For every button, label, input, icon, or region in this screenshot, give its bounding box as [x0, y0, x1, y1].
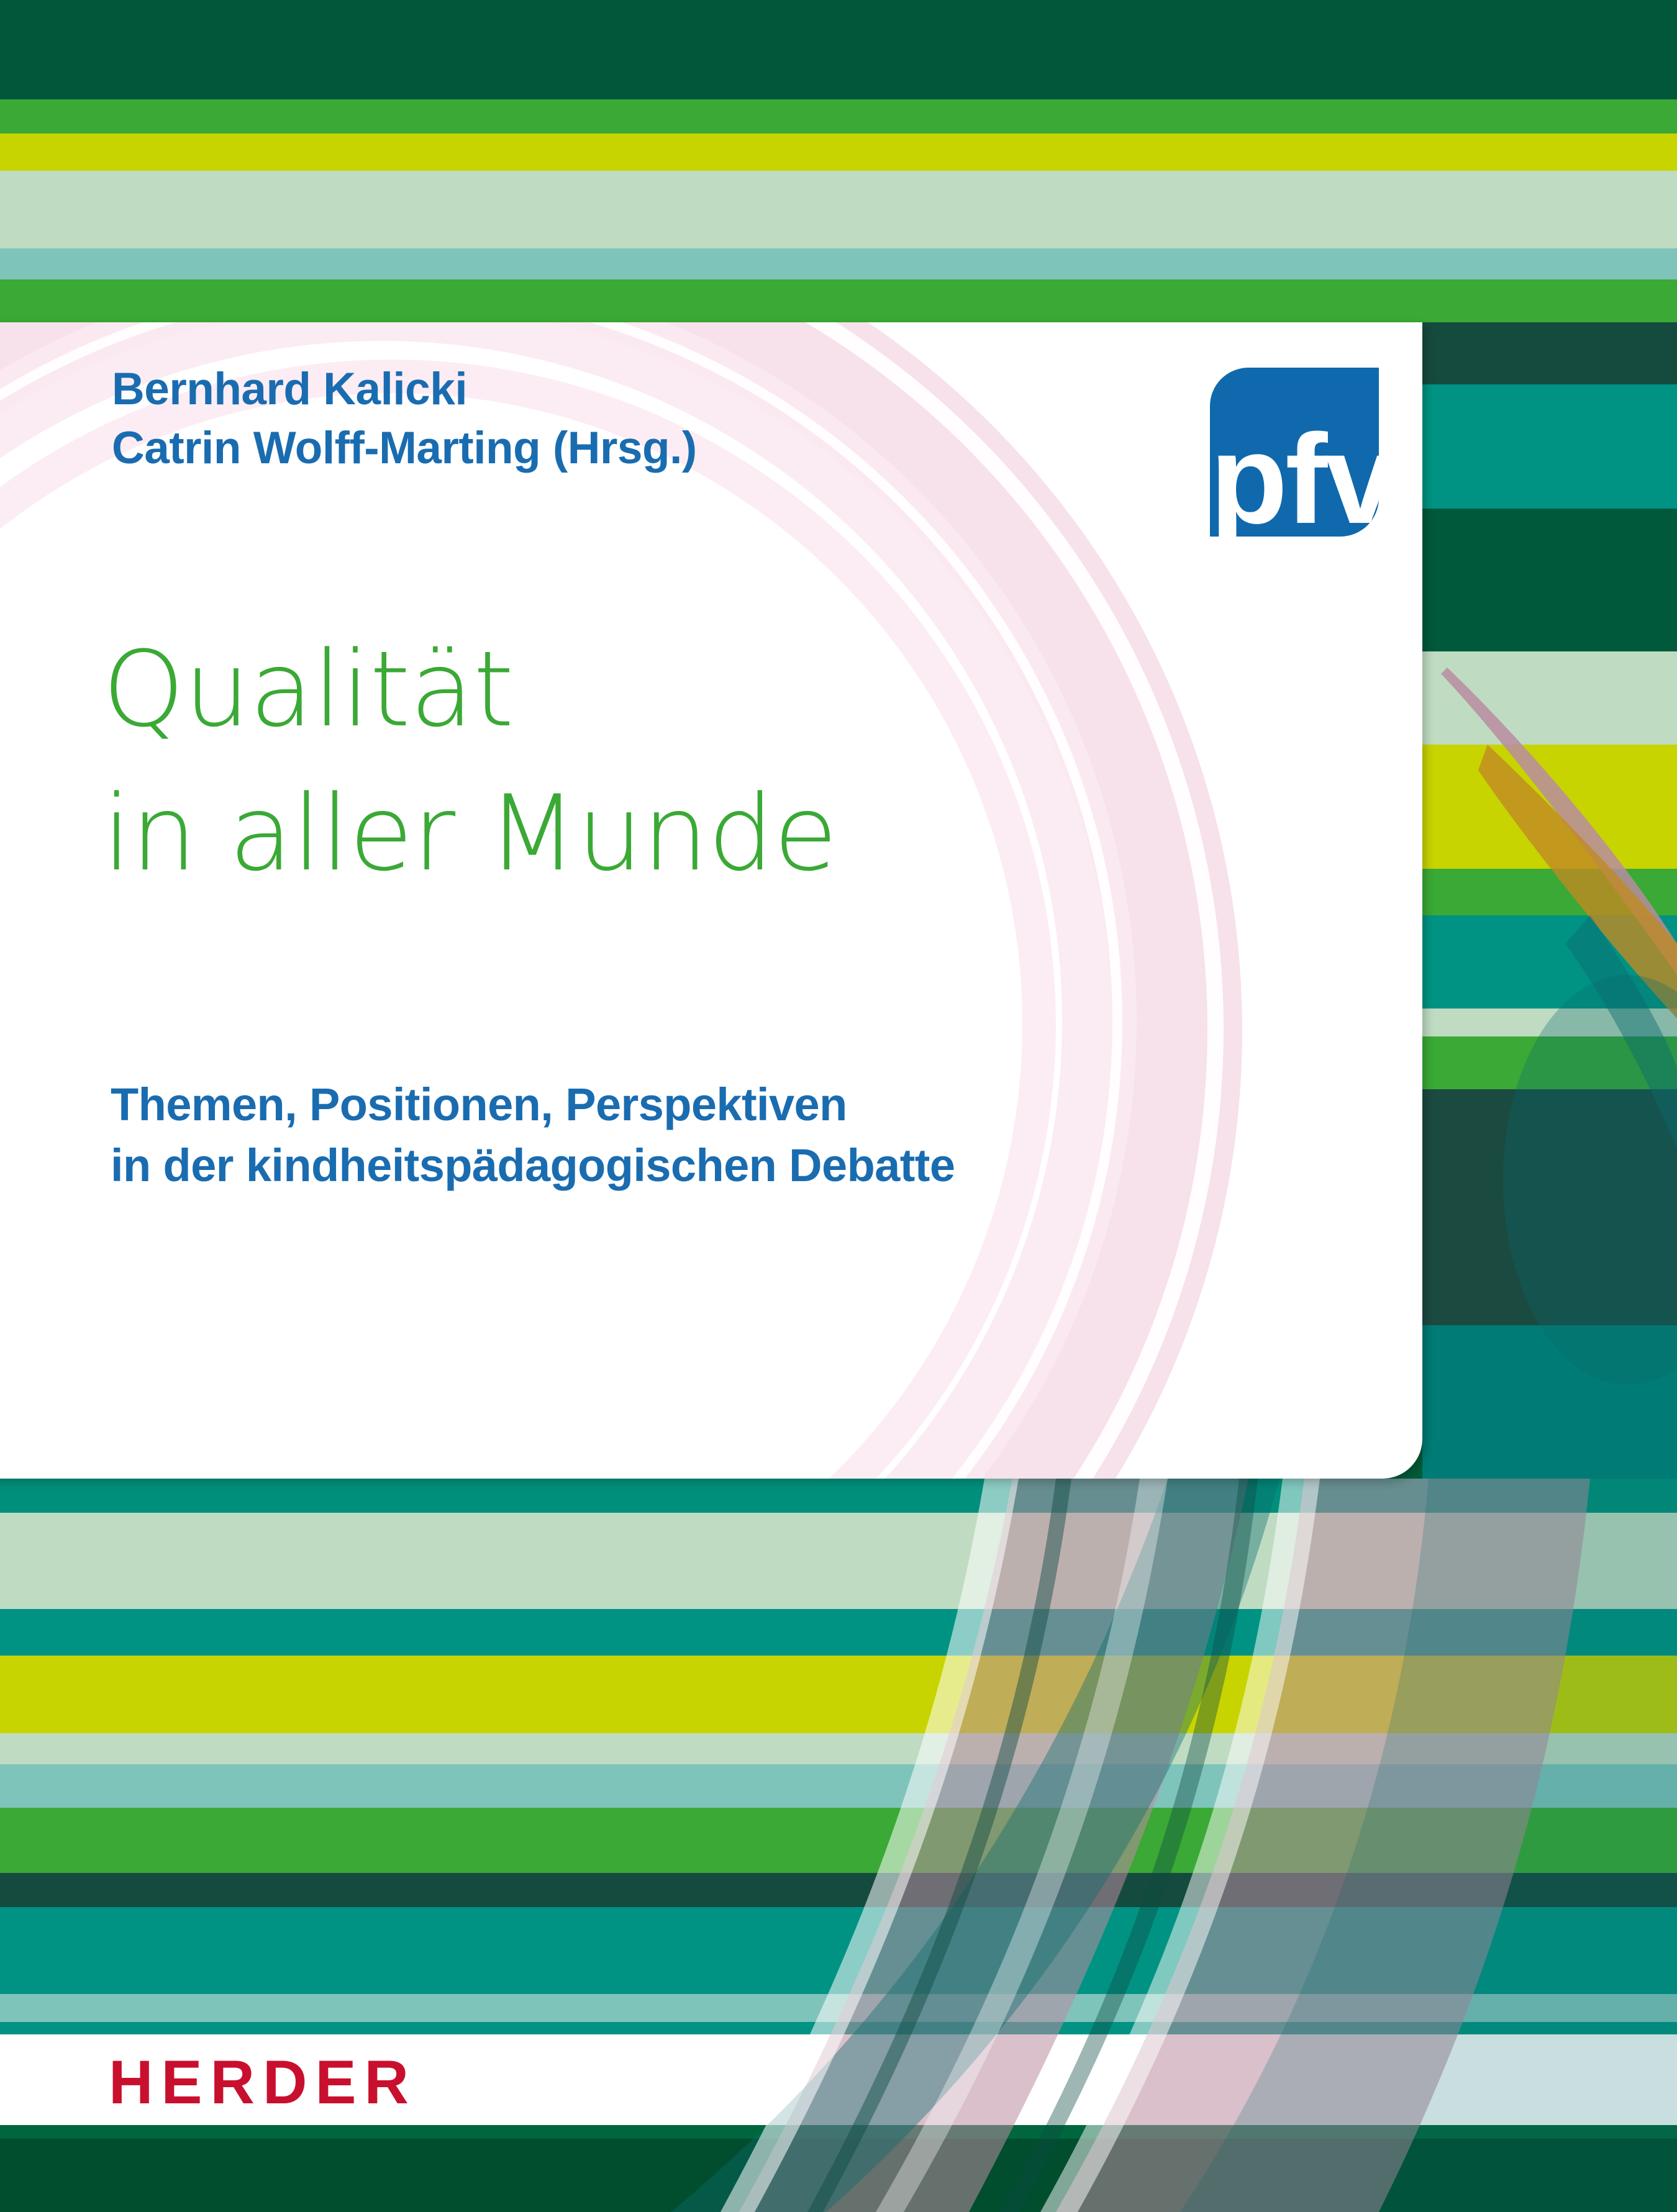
- author-names: Bernhard Kalicki Catrin Wolff-Marting (H…: [112, 360, 697, 478]
- book-cover: Bernhard Kalicki Catrin Wolff-Marting (H…: [0, 0, 1677, 2212]
- r-teal2: [1422, 915, 1677, 1009]
- band-lime: [0, 134, 1677, 171]
- r-pale2: [1422, 1009, 1677, 1036]
- b-pale-green: [0, 1513, 1677, 1609]
- r-teal3: [1422, 1325, 1677, 1479]
- r-green: [1422, 869, 1677, 915]
- b-deep-teal: [0, 1873, 1677, 1907]
- b-teal: [0, 1609, 1677, 1656]
- r-teal: [1422, 384, 1677, 509]
- r-deep-teal2: [1422, 1089, 1677, 1325]
- band-dark-green: [0, 0, 1677, 99]
- herder-publisher-wordmark: HERDER: [109, 2047, 417, 2118]
- b-bright-green: [0, 1808, 1677, 1873]
- r-forest: [1422, 509, 1677, 651]
- pfv-logo-text: pfv: [1210, 415, 1379, 537]
- b-pale-green2: [0, 1733, 1677, 1764]
- b-aqua: [0, 1764, 1677, 1808]
- r-green2: [1422, 1036, 1677, 1089]
- b-green-thin: [0, 2125, 1677, 2139]
- b-teal-thin: [0, 1479, 1677, 1513]
- b-aqua2: [0, 1994, 1677, 2022]
- r-deep-teal: [1422, 322, 1677, 384]
- b-lime: [0, 1656, 1677, 1733]
- book-subtitle: Themen, Positionen, Perspektiven in der …: [111, 1074, 955, 1197]
- book-title: Qualität in aller Munde: [102, 618, 837, 906]
- b-teal3: [0, 2022, 1677, 2034]
- band-aqua: [0, 248, 1677, 279]
- r-pale: [1422, 651, 1677, 745]
- b-bottom-green: [0, 2139, 1677, 2212]
- pfv-publisher-logo: pfv: [1210, 368, 1379, 537]
- b-teal2: [0, 1907, 1677, 1994]
- r-lime: [1422, 745, 1677, 869]
